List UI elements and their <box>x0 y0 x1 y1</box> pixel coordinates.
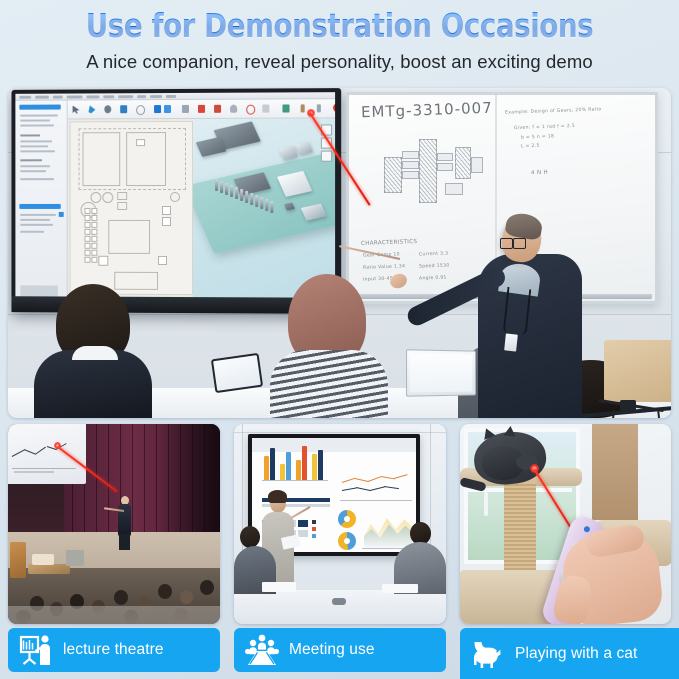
whiteboard-note: Current 3.3 <box>419 251 448 257</box>
audience-head <box>180 590 193 604</box>
tablet[interactable] <box>211 353 263 393</box>
whiteboard-note: b = 5 n = 18 <box>521 134 554 140</box>
main-classroom-photo: EMTg-3310-007 Example: Design of Gears, … <box>8 88 671 418</box>
gear-sketch <box>437 163 453 171</box>
student-front-left-body <box>34 350 152 418</box>
circle-icon[interactable] <box>136 105 145 115</box>
laptop-screen <box>410 353 472 392</box>
glasses-icon <box>500 238 526 247</box>
brown-wall <box>592 424 638 520</box>
gear-sketch <box>402 171 419 179</box>
caption-lecture-theatre[interactable]: lecture theatre <box>8 628 220 672</box>
circuit-board-3d <box>193 146 335 253</box>
pan-icon[interactable] <box>321 151 332 162</box>
panel-lecture-theatre <box>8 424 220 624</box>
gear-sketch <box>402 161 419 169</box>
caption-meeting-use[interactable]: Meeting use <box>234 628 446 672</box>
panel-meeting-use <box>234 424 446 624</box>
wooden-table <box>604 340 671 402</box>
panel-section-components[interactable] <box>19 105 60 110</box>
interactive-display[interactable] <box>11 88 341 314</box>
bar <box>296 460 301 480</box>
gear-sketch <box>419 139 437 203</box>
audience-head <box>200 580 214 595</box>
lanyard <box>503 287 532 335</box>
ic-chip-b <box>295 142 313 155</box>
panel-playing-with-a-cat <box>460 424 671 624</box>
page-subtitle: A nice companion, reveal personality, bo… <box>0 44 679 73</box>
pcb-3d-render[interactable] <box>193 118 335 297</box>
drone-body <box>620 400 636 412</box>
whiteboard-note: Given: f = 1 rad f = 2.5 <box>514 124 575 131</box>
tablet-screen <box>213 355 261 391</box>
whiteboard-note: 4 N H <box>531 170 548 177</box>
podium <box>10 542 26 578</box>
gear-sketch <box>445 183 463 195</box>
power-led <box>583 525 591 533</box>
attendee-head <box>240 526 260 548</box>
wire-red-icon[interactable] <box>198 105 205 113</box>
box-blue2-icon[interactable] <box>164 105 171 113</box>
app-left-panel[interactable] <box>15 101 67 297</box>
pin-icon[interactable] <box>301 104 305 112</box>
line-series <box>368 476 382 482</box>
info-icon[interactable] <box>317 104 321 112</box>
app-toolbar[interactable] <box>67 99 335 119</box>
presenter-at-easel-icon <box>19 634 53 666</box>
side-table <box>28 564 70 574</box>
projection-screen <box>8 424 86 484</box>
box-blue-icon[interactable] <box>154 105 161 113</box>
ring-red-icon[interactable] <box>246 105 255 115</box>
cat-tree-post <box>504 482 536 574</box>
bar <box>270 448 275 480</box>
caption-label: lecture theatre <box>63 641 164 659</box>
record-red-icon[interactable] <box>333 103 335 112</box>
bar <box>302 446 307 480</box>
pen-icon[interactable] <box>88 105 95 113</box>
line-series <box>342 487 357 491</box>
id-badge <box>504 333 518 351</box>
people-around-table-icon <box>245 634 279 666</box>
line-series <box>342 478 356 483</box>
caption-label: Meeting use <box>289 641 375 659</box>
caption-playing-with-a-cat[interactable]: Playing with a cat <box>460 628 679 679</box>
product-feature-image: Use for Demonstration Occasions A nice c… <box>0 0 679 679</box>
gear-sketch <box>455 147 471 179</box>
lamp-icon[interactable] <box>230 105 237 113</box>
student-headscarf-body <box>270 350 388 418</box>
display-screen <box>15 92 335 298</box>
header: Use for Demonstration Occasions A nice c… <box>0 0 679 84</box>
line-series <box>370 486 385 491</box>
book-icon[interactable] <box>282 104 289 112</box>
whiteboard-note: Angle 0.91 <box>419 276 447 282</box>
bar <box>318 450 323 480</box>
line-series <box>356 487 371 491</box>
line-series <box>384 486 399 489</box>
bar <box>280 464 285 480</box>
ic-chip-a <box>279 146 298 160</box>
student-front-left-collar <box>72 346 118 360</box>
cursor-icon[interactable] <box>73 105 80 113</box>
app-canvas[interactable] <box>68 118 335 297</box>
folder-icon[interactable] <box>120 105 127 113</box>
bar <box>264 456 269 480</box>
page-title: Use for Demonstration Occasions <box>24 0 655 44</box>
audience-head <box>114 590 128 605</box>
gear-sketch <box>437 153 453 161</box>
whiteboard-note: Example: Design of Gears, 20% Ratio <box>505 107 602 115</box>
whiteboard-note: L = 2.5 <box>521 144 540 150</box>
laptop[interactable] <box>406 349 476 396</box>
line-series <box>394 474 408 479</box>
gear-sketch <box>384 157 402 193</box>
square-grey-icon[interactable] <box>262 105 269 113</box>
gear-sketch <box>402 151 419 159</box>
walking-cat-icon <box>471 638 505 670</box>
panel-section-properties[interactable] <box>19 204 60 209</box>
whiteboard-heading: EMTg-3310-007 <box>361 99 493 122</box>
ruler-icon[interactable] <box>182 105 189 113</box>
audience-head <box>158 584 172 599</box>
whiteboard-note: CHARACTERISTICS <box>361 239 417 247</box>
whiteboard-note: Speed 1530 <box>419 263 450 269</box>
meeting-table <box>234 590 446 624</box>
gear-sketch <box>471 157 483 173</box>
cat-ear <box>504 425 517 436</box>
clock-icon[interactable] <box>104 105 111 113</box>
pcb-2d-schematic[interactable] <box>70 121 193 295</box>
bar <box>312 454 317 480</box>
bar <box>286 452 291 480</box>
whiteboard-note: Ratio Value 1.34 <box>363 264 406 270</box>
grid-red-icon[interactable] <box>214 105 221 113</box>
caption-label: Playing with a cat <box>515 645 637 663</box>
